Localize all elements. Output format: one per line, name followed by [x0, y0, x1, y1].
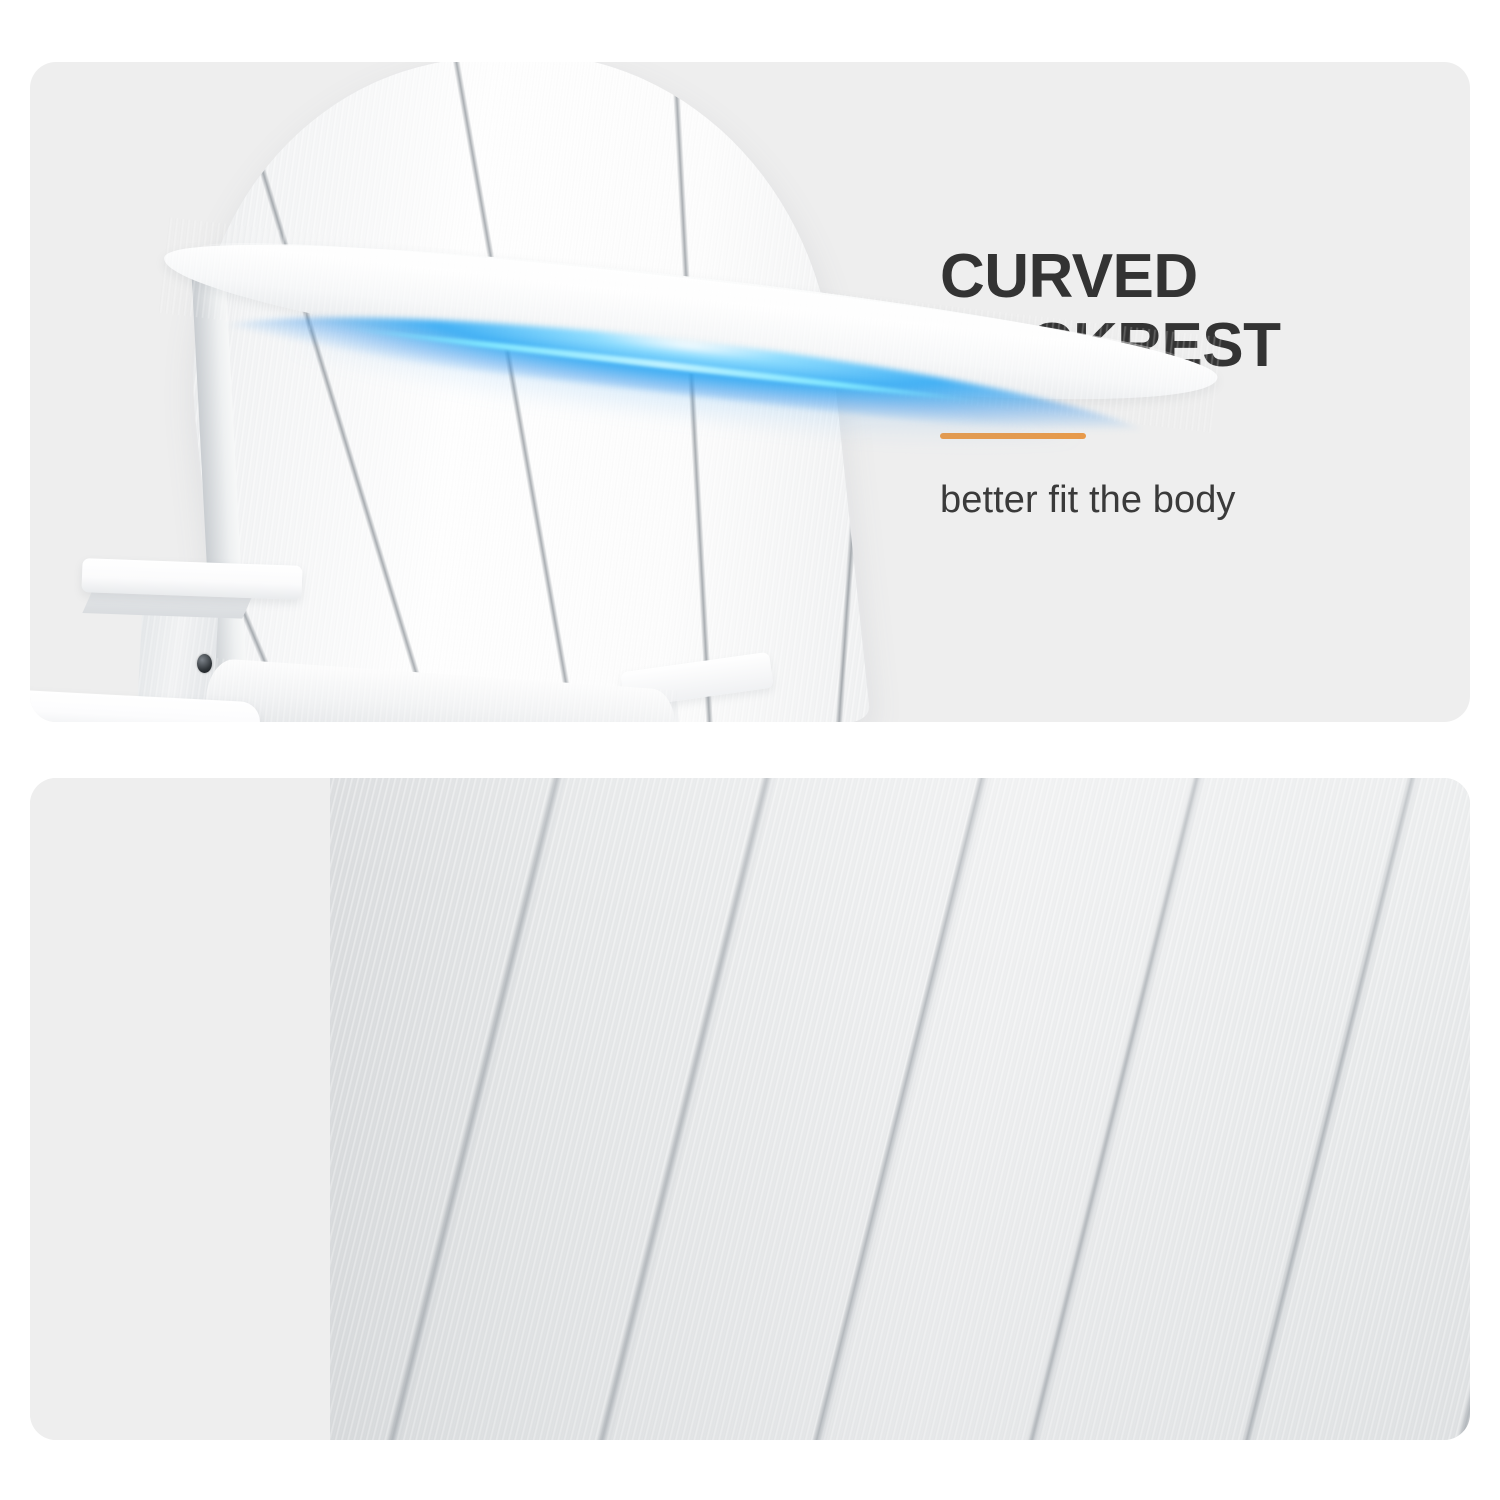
product-feature-page: CURVED BACKREST better fit the body [0, 0, 1500, 1500]
screw-head [197, 654, 212, 673]
backrest-shading [330, 778, 1470, 1440]
feature-panel-wide-armrests: WIDE ARMRESTS for better arm relaxation [30, 778, 1470, 1440]
armrest-product-image [30, 778, 1470, 1440]
backrest-slat-wall [330, 778, 1470, 1440]
panel-subtitle: better fit the body [940, 479, 1410, 522]
feature-panel-curved-backrest: CURVED BACKREST better fit the body [30, 62, 1470, 722]
